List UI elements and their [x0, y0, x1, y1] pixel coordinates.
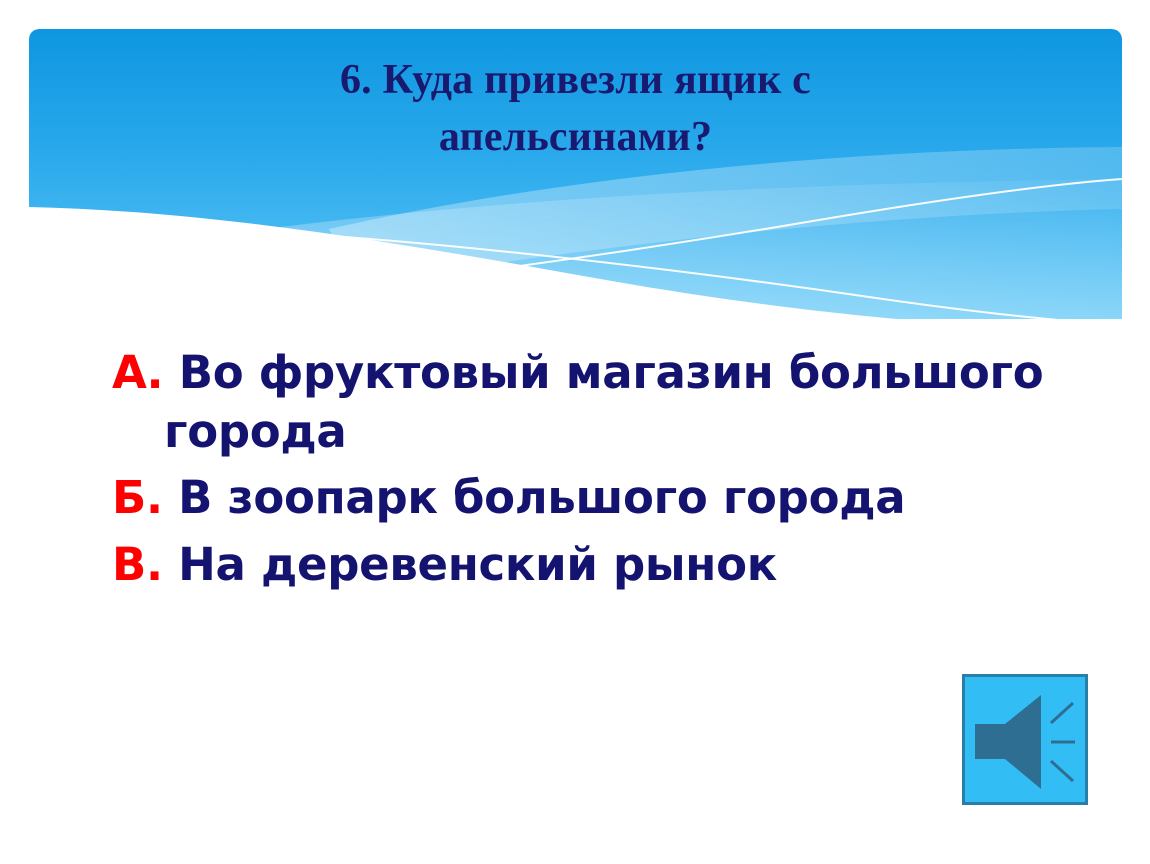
sound-wave-lower-icon: [1051, 761, 1073, 781]
speaker-icon[interactable]: [962, 674, 1088, 805]
answer-option-b[interactable]: Б. В зоопарк большого города: [112, 469, 1072, 528]
answer-text-a: Во фруктовый магазин большого города: [163, 346, 1043, 458]
sound-wave-upper-icon: [1051, 703, 1073, 723]
header-banner: [29, 29, 1122, 319]
answer-option-a[interactable]: А. Во фруктовый магазин большого города: [112, 344, 1072, 461]
answer-letter-a: А.: [112, 346, 163, 399]
answer-text-b: В зоопарк большого города: [163, 471, 906, 524]
speaker-body-icon: [975, 724, 1005, 759]
speaker-cone-icon: [1005, 695, 1041, 789]
answer-list: А. Во фруктовый магазин большого города …: [112, 344, 1072, 602]
quiz-slide: 6. Куда привезли ящик с апельсинами? А. …: [0, 0, 1150, 864]
answer-option-v[interactable]: В. На деревенский рынок: [112, 536, 1072, 595]
answer-text-v: На деревенский рынок: [163, 538, 777, 591]
answer-letter-b: Б.: [112, 471, 163, 524]
answer-letter-v: В.: [112, 538, 163, 591]
